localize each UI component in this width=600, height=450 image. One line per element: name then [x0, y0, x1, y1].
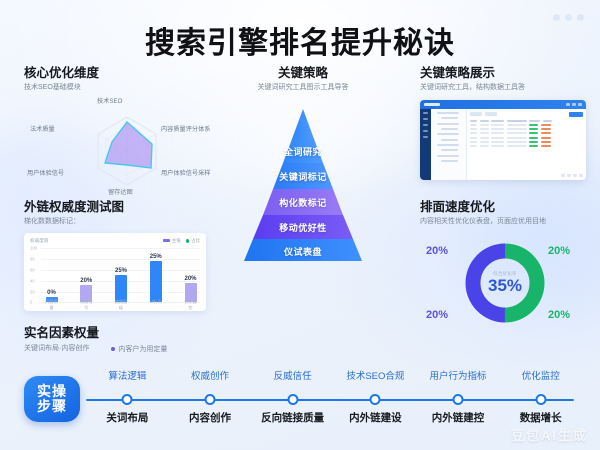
x-tick: 链路层级: [114, 299, 129, 311]
timeline-step-bottom: 关词布局: [86, 410, 169, 425]
dashboard-subtitle: 关键词研究工具，结构数据工具答: [420, 84, 586, 93]
dashboard-panel: 关键策略展示 关键词研究工具，结构数据工具答: [420, 66, 586, 180]
legend-dot: [111, 347, 115, 351]
table-row[interactable]: [470, 124, 583, 126]
donut-label-2: 20%: [426, 309, 448, 321]
bars-heading: 外链权威度测试图: [24, 200, 219, 215]
timeline-step-bottom: 内容创作: [169, 410, 252, 425]
timeline-step-2[interactable]: 反威信任 反向链接质量: [251, 368, 334, 428]
dashboard-icon-rail[interactable]: [420, 109, 431, 180]
timeline-step-top: 权威创作: [169, 368, 252, 382]
radar-panel: 核心优化维度 技术SEO基础模块 技术SEO 内容质量评分体系: [24, 66, 234, 195]
timeline-steps: 算法逻辑 关词布局 权威创作 内容创作 反威信任 反向链接质量 技术SEO合规: [86, 368, 582, 428]
donut-center: 综合优化率 35%: [488, 271, 522, 295]
pyramid-panel: 关键策略 关键词研究工具图示工具导答: [210, 66, 396, 263]
timeline-node-icon[interactable]: [287, 394, 298, 405]
bar-chart-plot: 100 80 60 40 20 0 0% 20%: [30, 246, 200, 302]
timeline-step-bottom: 内外链建控: [417, 410, 500, 425]
donut-label-3: 20%: [426, 245, 448, 257]
y-tick: 80: [30, 256, 35, 261]
bar-value: 25%: [150, 254, 162, 260]
dashboard-content: [467, 109, 586, 180]
dashboard-filter-chip[interactable]: [470, 112, 482, 116]
timeline-node-icon[interactable]: [453, 394, 464, 405]
timeline-node-icon[interactable]: [370, 394, 381, 405]
timeline-step-bottom: 数据增长: [499, 410, 582, 425]
timeline-step-bottom: 内外链建设: [334, 410, 417, 425]
legend-swatch: [163, 239, 170, 242]
timeline-track: 实操 步骤 算法逻辑 关词布局 权威创作 内容创作 反威信任 反向: [24, 368, 582, 428]
dashboard-titlebar: [420, 100, 586, 109]
legend-dot: [186, 239, 190, 243]
legend-label: 主值: [172, 238, 181, 244]
timeline-step-top: 反威信任: [251, 368, 334, 382]
timeline-panel: 实名因素权量 关键词布局·内容创作 内客户为用定量 实操 步骤 算法逻辑 关词布…: [24, 326, 584, 428]
bar-chart-header: 权威度值 主值 占比: [30, 238, 200, 244]
donut-center-value: 35%: [488, 277, 522, 295]
bar-series: 0% 20% 25% 25%: [44, 252, 198, 302]
page-title: 搜索引擎排名提升秘诀: [0, 18, 600, 62]
x-tick: UI行为: [148, 299, 163, 311]
radar-svg: [24, 97, 229, 195]
dashboard-body: [420, 109, 586, 180]
y-tick: 40: [30, 278, 35, 283]
timeline-step-0[interactable]: 算法逻辑 关词布局: [86, 368, 169, 428]
bar-rect: [115, 275, 127, 302]
table-row[interactable]: [470, 132, 583, 134]
radar-label-4: 用户体验信号: [27, 168, 64, 177]
pyramid-level-1: 关键词标记: [210, 170, 396, 183]
donut-heading: 排面速度优化: [420, 200, 590, 215]
dashboard-screenshot[interactable]: [420, 100, 586, 180]
timeline-legend-label: 内客户为用定量: [118, 344, 167, 354]
timeline-node-icon[interactable]: [122, 394, 133, 405]
pyramid-chart: 全词研究 关键词标记 构化数标记 移动优好性 仪试表盘: [210, 105, 396, 263]
legend-label: 占比: [191, 238, 200, 244]
pyramid-heading: 关键策略: [210, 66, 396, 81]
pyramid-level-2: 构化数标记: [210, 196, 396, 209]
infographic-page: 搜索引擎排名提升秘诀 核心优化维度 技术SEO基础模块 技术S: [0, 0, 600, 450]
bar-chart-legend: 主值 占比: [163, 238, 200, 244]
dashboard-table-header: [470, 120, 583, 122]
legend-item-1: 占比: [186, 238, 200, 244]
timeline-legend: 内客户为用定量: [111, 344, 167, 354]
table-row[interactable]: [470, 128, 583, 130]
donut-label-0: 20%: [548, 245, 570, 257]
table-row[interactable]: [470, 137, 583, 139]
bar-x-labels: 内容质量 权威信号 链路层级 UI行为 优化监控: [44, 299, 198, 311]
dashboard-pagination[interactable]: [470, 174, 583, 177]
dashboard-window-controls[interactable]: [566, 103, 582, 106]
radar-label-1: 内容质量评分体系: [161, 124, 211, 133]
y-tick: 100: [30, 245, 37, 250]
timeline-step-bottom: 反向链接质量: [251, 410, 334, 425]
dashboard-table: [470, 120, 583, 172]
timeline-subtitle: 关键词布局·内容创作: [24, 345, 89, 354]
pyramid-level-0: 全词研究: [210, 145, 396, 158]
bars-subtitle: 梯化数数据标记：: [24, 218, 219, 227]
donut-chart: 综合优化率 35% 20% 20% 20% 20%: [420, 231, 590, 336]
timeline-node-icon[interactable]: [535, 394, 546, 405]
y-tick: 0: [30, 299, 32, 304]
timeline-node-icon[interactable]: [205, 394, 216, 405]
y-tick: 20: [30, 289, 35, 294]
timeline-badge-line1: 实操: [37, 384, 67, 399]
y-tick: 60: [30, 267, 35, 272]
dashboard-brand-logo: [424, 103, 440, 106]
timeline-badge[interactable]: 实操 步骤: [24, 376, 80, 422]
radar-label-5: 法术质量: [30, 124, 55, 133]
table-row[interactable]: [470, 141, 583, 143]
timeline-step-top: 算法逻辑: [86, 368, 169, 382]
legend-item-0: 主值: [163, 238, 181, 244]
dashboard-tree-nav[interactable]: [431, 109, 467, 180]
timeline-badge-line2: 步骤: [37, 399, 67, 414]
timeline-heading: 实名因素权量: [24, 326, 584, 341]
radar-label-0: 技术SEO: [97, 96, 122, 105]
pyramid-subtitle: 关键词研究工具图示工具导答: [210, 84, 396, 93]
timeline-step-3[interactable]: 技术SEO合规 内外链建设: [334, 368, 417, 428]
donut-panel: 排面速度优化 内容相关性优化仪表盘，页面应优用目地 综合优化率 35% 20% …: [420, 200, 590, 336]
radar-chart: 技术SEO 内容质量评分体系 用户体验信号采样 留存达图 用户体验信号 法术质量: [24, 97, 229, 195]
timeline-step-top: 用户行为指标: [417, 368, 500, 382]
bars-panel: 外链权威度测试图 梯化数数据标记： 权威度值 主值 占比 100: [24, 200, 219, 311]
timeline-step-top: 优化监控: [499, 368, 582, 382]
dashboard-filter-chip[interactable]: [485, 112, 497, 116]
pyramid-svg: [210, 105, 396, 263]
bar-value: 25%: [115, 268, 127, 274]
pyramid-level-3: 移动优好性: [210, 221, 396, 234]
donut-subtitle: 内容相关性优化仪表盘，页面应优用目地: [420, 218, 590, 227]
bar-chart-axis-title: 权威度值: [30, 238, 48, 244]
donut-label-1: 20%: [548, 309, 570, 321]
timeline-step-4[interactable]: 用户行为指标 内外链建控: [417, 368, 500, 428]
bar-chart: 权威度值 主值 占比 100 80 60 40 20: [24, 233, 206, 311]
timeline-step-1[interactable]: 权威创作 内容创作: [169, 368, 252, 428]
dashboard-toolbar[interactable]: [470, 112, 583, 117]
timeline-subtitle-row: 关键词布局·内容创作 内客户为用定量: [24, 344, 584, 354]
radar-label-2: 用户体验信号采样: [161, 168, 211, 177]
dashboard-primary-button[interactable]: [569, 112, 583, 117]
x-tick: 权威信号: [79, 299, 94, 311]
radar-label-3: 留存达图: [108, 187, 133, 196]
table-row[interactable]: [470, 145, 583, 147]
x-tick: 优化监控: [183, 299, 198, 311]
bar-value: 0%: [47, 290, 56, 296]
x-tick: 内容质量: [44, 299, 59, 311]
bar-value: 20%: [184, 276, 196, 282]
bar-item-3[interactable]: 25%: [148, 254, 163, 302]
timeline-step-top: 技术SEO合规: [334, 368, 417, 382]
bar-rect: [150, 261, 162, 302]
dashboard-heading: 关键策略展示: [420, 66, 586, 81]
radar-heading: 核心优化维度: [24, 66, 234, 81]
bar-value: 20%: [80, 278, 92, 284]
pyramid-level-4: 仪试表盘: [210, 245, 396, 258]
timeline-step-5[interactable]: 优化监控 数据增长: [499, 368, 582, 428]
bar-item-2[interactable]: 25%: [114, 268, 129, 302]
watermark: 豆包AI生成: [511, 425, 588, 444]
radar-subtitle: 技术SEO基础模块: [24, 84, 234, 93]
